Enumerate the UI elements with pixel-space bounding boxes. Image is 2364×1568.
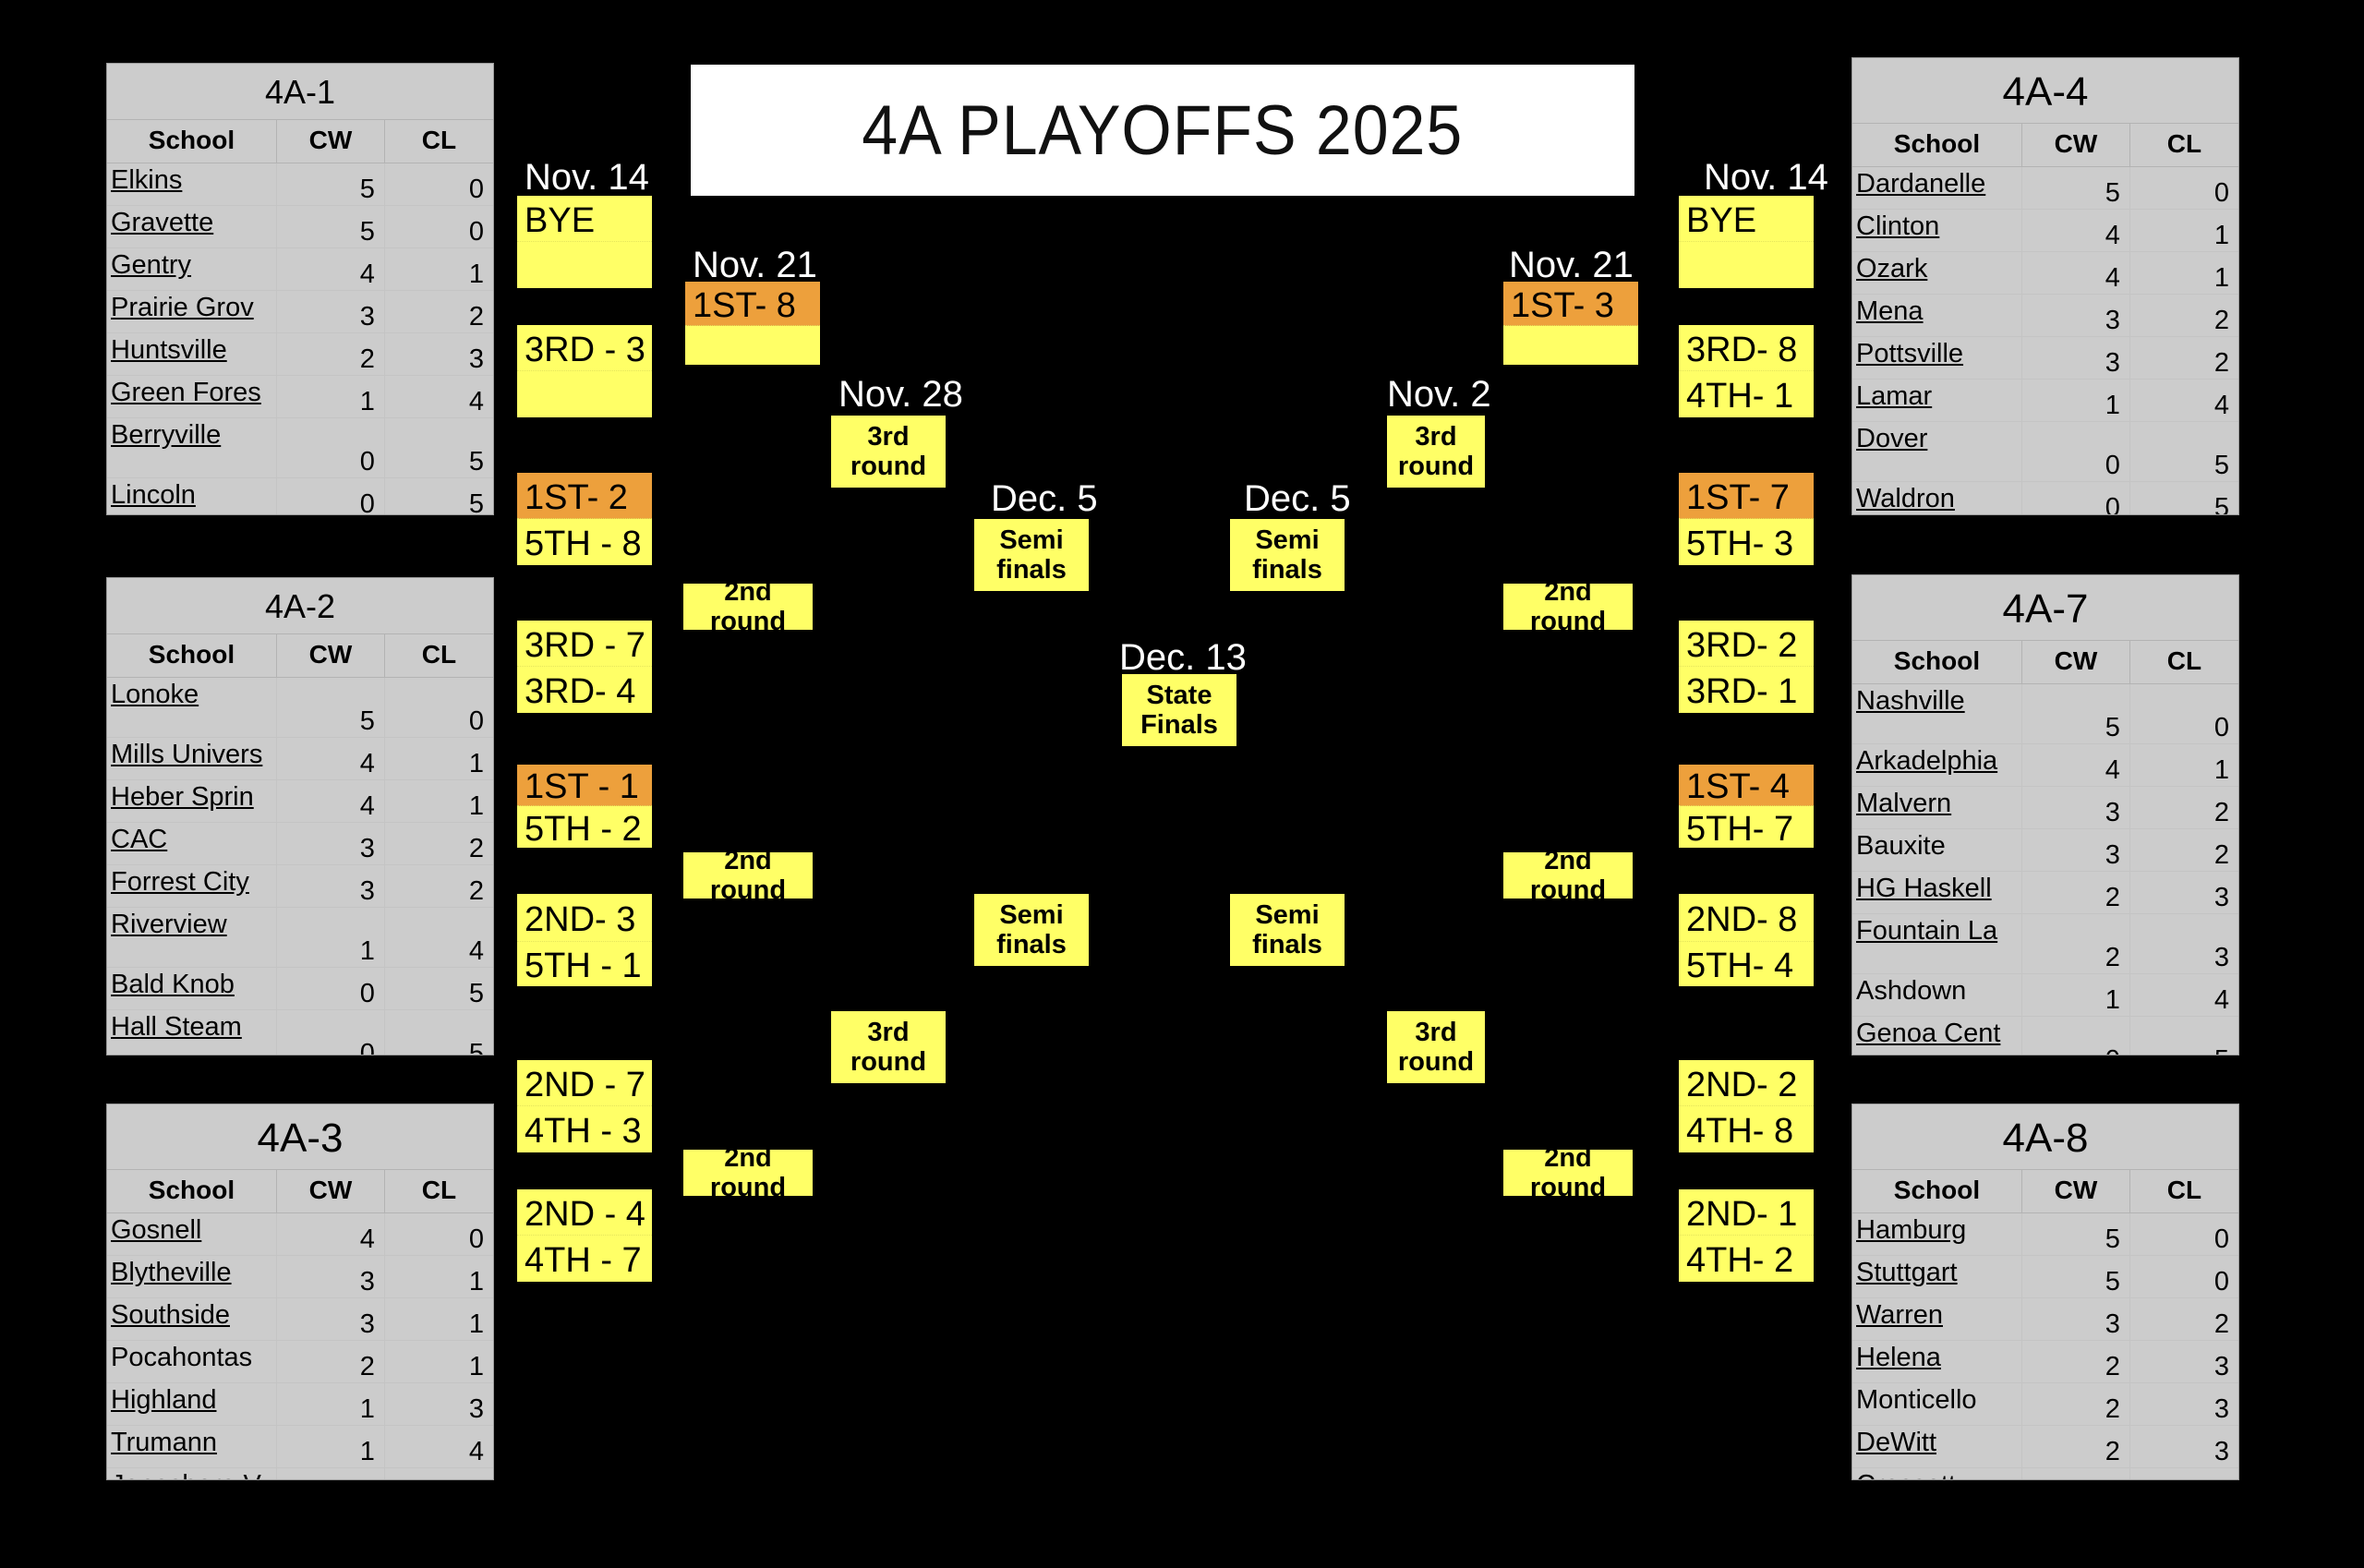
table-row: Arkadelphia41 xyxy=(1852,744,2238,787)
table-row: Gentry41 xyxy=(107,248,493,291)
column-header-school: School xyxy=(1852,124,2022,166)
cell-school: Southside xyxy=(107,1298,277,1340)
cell-cw: 0 xyxy=(2022,422,2130,481)
cell-cl: 1 xyxy=(385,1341,493,1382)
cell-cw: 0 xyxy=(277,478,385,515)
match-slot-bottom[interactable]: 4TH- 1 xyxy=(1679,371,1814,417)
match-slot-bottom[interactable] xyxy=(517,242,652,288)
match-box-left-7[interactable]: 2ND - 7 4TH - 3 xyxy=(517,1060,652,1152)
cell-school: Ashdown xyxy=(1852,974,2022,1016)
cell-cl: 5 xyxy=(2130,422,2238,481)
cell-cw: 2 xyxy=(2022,914,2130,973)
cell-cw: 1 xyxy=(2022,380,2130,421)
cell-cl: 4 xyxy=(385,1426,493,1467)
cell-cl: 1 xyxy=(2130,252,2238,294)
match-slot-top[interactable]: 2ND- 8 xyxy=(1679,894,1814,942)
round-tag-line2: finals xyxy=(1252,930,1322,959)
table-row: Bauxite32 xyxy=(1852,829,2238,872)
match-slot-bottom[interactable]: 5TH- 3 xyxy=(1679,519,1814,565)
match-slot-top[interactable]: 2ND - 7 xyxy=(517,1060,652,1106)
round-tag-line2: finals xyxy=(996,555,1067,585)
table-header-row: School CW CL xyxy=(107,120,493,163)
match-box-left-2[interactable]: 3RD - 3 xyxy=(517,325,652,417)
table-row: Southside31 xyxy=(107,1298,493,1341)
round-tag-line1: 3rd xyxy=(1415,422,1456,452)
column-header-cw: CW xyxy=(277,120,385,163)
cell-cl: 1 xyxy=(385,248,493,290)
cell-cw: 0 xyxy=(2022,1017,2130,1055)
cell-cw: 1 xyxy=(277,376,385,417)
cell-cl: 3 xyxy=(2130,1341,2238,1382)
column-header-cl: CL xyxy=(2130,641,2238,683)
round-tag-line2: round xyxy=(850,1047,926,1077)
cell-school: Green Fores xyxy=(107,376,277,417)
table-row: CAC32 xyxy=(107,823,493,865)
match-box-right-2[interactable]: 3RD- 8 4TH- 1 xyxy=(1679,325,1814,417)
table-row: Mena32 xyxy=(1852,295,2238,337)
match-slot-bottom[interactable]: 4TH- 2 xyxy=(1679,1236,1814,1282)
cell-cl: 5 xyxy=(385,418,493,477)
round-tag-line1: Semi xyxy=(1255,525,1319,555)
cell-cl: 4 xyxy=(2130,380,2238,421)
table-row: Trumann14 xyxy=(107,1426,493,1468)
match-box-right-6[interactable]: 2ND- 8 5TH- 4 xyxy=(1679,894,1814,986)
match-slot-top[interactable]: 1ST- 8 xyxy=(685,282,820,326)
table-row: Dardanelle50 xyxy=(1852,167,2238,210)
table-header-row: School CW CL xyxy=(1852,1170,2238,1213)
match-slot-top[interactable]: 2ND- 1 xyxy=(1679,1189,1814,1236)
table-row: Heber Sprin41 xyxy=(107,780,493,823)
conference-title: 4A-2 xyxy=(107,578,493,634)
table-row: Ashdown14 xyxy=(1852,974,2238,1017)
page-title: 4A PLAYOFFS 2025 xyxy=(862,90,1464,171)
match-slot-bottom[interactable]: 4TH - 7 xyxy=(517,1236,652,1282)
match-slot-top[interactable]: 2ND- 2 xyxy=(1679,1060,1814,1106)
column-header-cw: CW xyxy=(2022,124,2130,166)
match-slot-bottom[interactable]: 3RD- 4 xyxy=(517,667,652,713)
match-slot-top[interactable]: 1ST - 1 xyxy=(517,765,652,806)
cell-cw: 4 xyxy=(277,248,385,290)
match-box-left-1[interactable]: BYE xyxy=(517,196,652,288)
match-slot-top[interactable]: 1ST- 4 xyxy=(1679,765,1814,806)
cell-school: Forrest City xyxy=(107,865,277,907)
date-label-right-nov14: Nov. 14 xyxy=(1704,157,1828,199)
column-header-cl: CL xyxy=(2130,1170,2238,1212)
cell-cw: 2 xyxy=(2022,872,2130,913)
table-header-row: School CW CL xyxy=(1852,124,2238,167)
cell-cw: 4 xyxy=(2022,252,2130,294)
round-tag-semifinals-right-2[interactable]: Semi finals xyxy=(1230,894,1345,966)
table-row: Riverview14 xyxy=(107,908,493,968)
round-tag-line2: finals xyxy=(1252,555,1322,585)
conference-title: 4A-4 xyxy=(1852,58,2238,124)
cell-cw: 5 xyxy=(277,163,385,205)
column-header-cw: CW xyxy=(277,634,385,677)
cell-school: Arkadelphia xyxy=(1852,744,2022,786)
date-label-right-nov28: Nov. 2 xyxy=(1387,374,1496,416)
match-slot-bottom[interactable]: 4TH - 3 xyxy=(517,1106,652,1152)
cell-cl: 3 xyxy=(2130,914,2238,973)
table-row: Gravette50 xyxy=(107,206,493,248)
conference-table-4a-4: 4A-4 School CW CL Dardanelle50 Clinton41… xyxy=(1851,57,2239,515)
cell-school: Stuttgart xyxy=(1852,1256,2022,1297)
cell-school: Crossett xyxy=(1852,1468,2022,1480)
cell-school: Nashville xyxy=(1852,684,2022,743)
cell-school: Gravette xyxy=(107,206,277,247)
table-row: Warren32 xyxy=(1852,1298,2238,1341)
table-header-row: School CW CL xyxy=(107,634,493,678)
round-tag-line1: 3rd xyxy=(867,422,909,452)
match-slot-bottom[interactable] xyxy=(1679,242,1814,288)
cell-cw: 3 xyxy=(2022,787,2130,828)
round-tag-3rd-round-right-2[interactable]: 3rd round xyxy=(1387,1011,1485,1083)
table-row: Lamar14 xyxy=(1852,380,2238,422)
cell-cl: 0 xyxy=(385,1213,493,1255)
conference-table-4a-8: 4A-8 School CW CL Hamburg50 Stuttgart50 … xyxy=(1851,1104,2239,1480)
cell-cw: 3 xyxy=(277,823,385,864)
cell-school: Gosnell xyxy=(107,1213,277,1255)
match-box-right-8[interactable]: 2ND- 1 4TH- 2 xyxy=(1679,1189,1814,1282)
table-row: Fountain La23 xyxy=(1852,914,2238,974)
cell-cw: 1 xyxy=(277,1426,385,1467)
round-tag-line2: finals xyxy=(996,930,1067,959)
table-row: Blytheville31 xyxy=(107,1256,493,1298)
cell-cw: 3 xyxy=(2022,829,2130,871)
cell-school: Huntsville xyxy=(107,333,277,375)
cell-school: Lincoln xyxy=(107,478,277,515)
cell-school: HG Haskell xyxy=(1852,872,2022,913)
round-tag-line1: 3rd xyxy=(1415,1018,1456,1047)
round-tag-line1: Semi xyxy=(999,900,1063,930)
table-row: Hall Steam 05 xyxy=(107,1010,493,1055)
table-row: Pocahontas21 xyxy=(107,1341,493,1383)
table-row: Prairie Grov32 xyxy=(107,291,493,333)
table-header-row: School CW CL xyxy=(107,1170,493,1213)
cell-school: CAC xyxy=(107,823,277,864)
cell-school: Heber Sprin xyxy=(107,780,277,822)
column-header-school: School xyxy=(1852,641,2022,683)
table-row: Highland13 xyxy=(107,1383,493,1426)
match-box-right-1[interactable]: BYE xyxy=(1679,196,1814,288)
cell-school: Bauxite xyxy=(1852,829,2022,871)
cell-cw: 3 xyxy=(277,1256,385,1297)
table-row: Genoa Cent05 xyxy=(1852,1017,2238,1055)
round-tag-3rd-round-left-1[interactable]: 3rd round xyxy=(831,416,946,488)
match-slot-bottom[interactable]: 5TH- 4 xyxy=(1679,942,1814,986)
cell-cw: 1 xyxy=(277,908,385,967)
cell-cw: 0 xyxy=(277,1468,385,1480)
cell-cl: 3 xyxy=(385,1383,493,1425)
match-slot-top[interactable]: BYE xyxy=(517,196,652,242)
cell-cl: 5 xyxy=(2130,1017,2238,1055)
cell-cw: 4 xyxy=(277,738,385,779)
table-row: Dover05 xyxy=(1852,422,2238,482)
cell-cw: 1 xyxy=(2022,974,2130,1016)
cell-cl: 4 xyxy=(385,376,493,417)
column-header-cw: CW xyxy=(2022,1170,2130,1212)
cell-cl: 1 xyxy=(2130,744,2238,786)
match-box-right-7[interactable]: 2ND- 2 4TH- 8 xyxy=(1679,1060,1814,1152)
cell-cl: 3 xyxy=(2130,872,2238,913)
cell-school: Highland xyxy=(107,1383,277,1425)
match-slot-bottom[interactable] xyxy=(685,326,820,365)
cell-school: Jonesboro V xyxy=(107,1468,277,1480)
table-row: Waldron05 xyxy=(1852,482,2238,515)
cell-cw: 1 xyxy=(277,1383,385,1425)
match-box-left-r2-1[interactable]: 1ST- 8 xyxy=(685,282,820,365)
cell-cw: 4 xyxy=(2022,744,2130,786)
page-title-banner: 4A PLAYOFFS 2025 xyxy=(691,65,1634,196)
cell-school: Genoa Cent xyxy=(1852,1017,2022,1055)
cell-cl: 5 xyxy=(385,1010,493,1055)
cell-school: Waldron xyxy=(1852,482,2022,515)
cell-school: Riverview xyxy=(107,908,277,967)
cell-cw: 2 xyxy=(2022,1383,2130,1425)
match-box-left-5[interactable]: 1ST - 1 5TH - 2 xyxy=(517,765,652,848)
match-box-left-4[interactable]: 3RD - 7 3RD- 4 xyxy=(517,621,652,713)
cell-cl: 3 xyxy=(2130,1426,2238,1467)
table-row: Green Fores14 xyxy=(107,376,493,418)
table-row: Helena23 xyxy=(1852,1341,2238,1383)
table-row: HG Haskell23 xyxy=(1852,872,2238,914)
round-tag-semifinals-left-2[interactable]: Semi finals xyxy=(974,894,1089,966)
match-box-left-6[interactable]: 2ND- 3 5TH - 1 xyxy=(517,894,652,986)
match-slot-bottom[interactable]: 3RD- 1 xyxy=(1679,667,1814,713)
column-header-school: School xyxy=(107,120,277,163)
conference-table-4a-2: 4A-2 School CW CL Lonoke50 Mills Univers… xyxy=(106,577,494,1055)
cell-school: Elkins xyxy=(107,163,277,205)
match-slot-top[interactable]: 2ND - 4 xyxy=(517,1189,652,1236)
round-tag-line1: Semi xyxy=(1255,900,1319,930)
bracket-canvas: 4A PLAYOFFS 2025 4A-1 School CW CL Elkin… xyxy=(0,0,2364,1568)
cell-school: Hamburg xyxy=(1852,1213,2022,1255)
cell-school: Prairie Grov xyxy=(107,291,277,332)
match-slot-bottom[interactable]: 4TH- 8 xyxy=(1679,1106,1814,1152)
date-label-right-dec5: Dec. 5 xyxy=(1244,478,1351,520)
cell-cl: 4 xyxy=(2130,1468,2238,1480)
cell-cl: 2 xyxy=(385,823,493,864)
match-slot-top[interactable]: 3RD- 2 xyxy=(1679,621,1814,667)
conference-table-4a-7: 4A-7 School CW CL Nashville50 Arkadelphi… xyxy=(1851,574,2239,1055)
cell-school: Trumann xyxy=(107,1426,277,1467)
conference-title: 4A-1 xyxy=(107,64,493,120)
cell-school: Mills Univers xyxy=(107,738,277,779)
cell-cl: 4 xyxy=(2130,974,2238,1016)
cell-school: Pocahontas xyxy=(107,1341,277,1382)
cell-cl: 0 xyxy=(2130,1213,2238,1255)
table-row: Lincoln05 xyxy=(107,478,493,515)
round-tag-3rd-round-right-1[interactable]: 3rd round xyxy=(1387,416,1485,488)
cell-cl: 4 xyxy=(385,1468,493,1480)
match-box-right-r2-1[interactable]: 1ST- 3 xyxy=(1503,282,1638,365)
date-label-left-nov28: Nov. 28 xyxy=(838,374,963,416)
date-label-left-dec5: Dec. 5 xyxy=(991,478,1098,520)
table-row: Mills Univers41 xyxy=(107,738,493,780)
round-tag-2nd-round-left-1[interactable]: 2nd round xyxy=(683,584,813,630)
match-slot-bottom[interactable]: 5TH - 8 xyxy=(517,519,652,565)
cell-cw: 2 xyxy=(2022,1426,2130,1467)
match-box-right-4[interactable]: 3RD- 2 3RD- 1 xyxy=(1679,621,1814,713)
cell-school: Dover xyxy=(1852,422,2022,481)
cell-cl: 2 xyxy=(2130,787,2238,828)
table-row: Ozark41 xyxy=(1852,252,2238,295)
conference-title: 4A-8 xyxy=(1852,1104,2238,1170)
table-row: Forrest City32 xyxy=(107,865,493,908)
cell-cl: 1 xyxy=(385,738,493,779)
round-tag-line2: round xyxy=(1398,452,1474,481)
round-tag-state-finals[interactable]: State Finals xyxy=(1122,674,1236,746)
cell-school: Hall Steam xyxy=(107,1010,277,1055)
cell-school: Lonoke xyxy=(107,678,277,737)
round-tag-2nd-round-right-1[interactable]: 2nd round xyxy=(1503,584,1633,630)
match-slot-bottom[interactable] xyxy=(1503,326,1638,365)
match-slot-top[interactable]: 1ST- 3 xyxy=(1503,282,1638,326)
column-header-cl: CL xyxy=(385,120,493,163)
match-slot-top[interactable]: 3RD - 7 xyxy=(517,621,652,667)
round-tag-line2: round xyxy=(850,452,926,481)
match-box-right-3[interactable]: 1ST- 7 5TH- 3 xyxy=(1679,473,1814,565)
cell-cw: 5 xyxy=(2022,167,2130,209)
cell-cl: 0 xyxy=(385,206,493,247)
match-slot-top[interactable]: 3RD - 3 xyxy=(517,325,652,371)
cell-cw: 3 xyxy=(277,1298,385,1340)
match-slot-bottom[interactable]: 5TH - 2 xyxy=(517,806,652,848)
conference-table-4a-3: 4A-3 School CW CL Gosnell40 Blytheville3… xyxy=(106,1104,494,1480)
conference-title: 4A-3 xyxy=(107,1104,493,1170)
round-tag-2nd-round-right-2[interactable]: 2nd round xyxy=(1503,852,1633,899)
cell-cl: 5 xyxy=(2130,482,2238,515)
column-header-cl: CL xyxy=(385,634,493,677)
match-box-left-8[interactable]: 2ND - 4 4TH - 7 xyxy=(517,1189,652,1282)
cell-cl: 5 xyxy=(385,478,493,515)
table-row: Clinton41 xyxy=(1852,210,2238,252)
cell-school: Helena xyxy=(1852,1341,2022,1382)
cell-cw: 3 xyxy=(2022,337,2130,379)
cell-cl: 5 xyxy=(385,968,493,1009)
match-slot-top[interactable]: 2ND- 3 xyxy=(517,894,652,942)
table-row: Huntsville23 xyxy=(107,333,493,376)
cell-school: Monticello xyxy=(1852,1383,2022,1425)
cell-school: Dardanelle xyxy=(1852,167,2022,209)
cell-cw: 3 xyxy=(277,865,385,907)
round-tag-line1: 3rd xyxy=(867,1018,909,1047)
match-slot-top[interactable]: 1ST- 7 xyxy=(1679,473,1814,519)
round-tag-line2: Finals xyxy=(1140,710,1218,740)
cell-cw: 0 xyxy=(2022,482,2130,515)
cell-cl: 3 xyxy=(2130,1383,2238,1425)
cell-cl: 0 xyxy=(2130,167,2238,209)
cell-cw: 5 xyxy=(2022,1213,2130,1255)
table-row: Hamburg50 xyxy=(1852,1213,2238,1256)
cell-cw: 4 xyxy=(2022,210,2130,251)
date-label-final-dec13: Dec. 13 xyxy=(1119,637,1247,679)
cell-cl: 1 xyxy=(385,780,493,822)
column-header-cl: CL xyxy=(385,1170,493,1212)
cell-school: DeWitt xyxy=(1852,1426,2022,1467)
cell-school: Bald Knob xyxy=(107,968,277,1009)
match-box-left-3[interactable]: 1ST- 2 5TH - 8 xyxy=(517,473,652,565)
cell-cl: 0 xyxy=(2130,684,2238,743)
date-label-right-nov21: Nov. 21 xyxy=(1509,245,1634,286)
cell-cl: 2 xyxy=(2130,337,2238,379)
table-row: DeWitt23 xyxy=(1852,1426,2238,1468)
round-tag-semifinals-left-1[interactable]: Semi finals xyxy=(974,519,1089,591)
cell-cl: 0 xyxy=(385,163,493,205)
round-tag-2nd-round-left-3[interactable]: 2nd round xyxy=(683,1150,813,1196)
cell-cl: 2 xyxy=(385,291,493,332)
date-label-left-nov21: Nov. 21 xyxy=(693,245,817,286)
match-slot-top[interactable]: 1ST- 2 xyxy=(517,473,652,519)
cell-cw: 3 xyxy=(277,291,385,332)
round-tag-line1: State xyxy=(1147,681,1212,710)
round-tag-line1: Semi xyxy=(999,525,1063,555)
table-row: Jonesboro V04 xyxy=(107,1468,493,1480)
round-tag-semifinals-right-1[interactable]: Semi finals xyxy=(1230,519,1345,591)
cell-cl: 2 xyxy=(2130,829,2238,871)
match-box-right-5[interactable]: 1ST- 4 5TH- 7 xyxy=(1679,765,1814,848)
date-label-left-nov14: Nov. 14 xyxy=(525,157,649,199)
column-header-cw: CW xyxy=(277,1170,385,1212)
cell-cw: 2 xyxy=(277,1341,385,1382)
table-row: Pottsville32 xyxy=(1852,337,2238,380)
cell-cw: 4 xyxy=(277,1213,385,1255)
column-header-school: School xyxy=(1852,1170,2022,1212)
table-row: Lonoke50 xyxy=(107,678,493,738)
cell-cl: 2 xyxy=(2130,1298,2238,1340)
cell-cw: 0 xyxy=(277,418,385,477)
cell-cw: 2 xyxy=(277,333,385,375)
table-row: Bald Knob05 xyxy=(107,968,493,1010)
table-row: Berryville05 xyxy=(107,418,493,478)
cell-cw: 3 xyxy=(2022,1298,2130,1340)
match-slot-bottom[interactable] xyxy=(517,371,652,417)
round-tag-2nd-round-right-3[interactable]: 2nd round xyxy=(1503,1150,1633,1196)
cell-cw: 5 xyxy=(2022,684,2130,743)
table-row: Gosnell40 xyxy=(107,1213,493,1256)
cell-school: Ozark xyxy=(1852,252,2022,294)
cell-cl: 4 xyxy=(385,908,493,967)
cell-school: Pottsville xyxy=(1852,337,2022,379)
cell-cl: 2 xyxy=(385,865,493,907)
match-slot-bottom[interactable]: 5TH - 1 xyxy=(517,942,652,986)
column-header-school: School xyxy=(107,1170,277,1212)
match-slot-bottom[interactable]: 5TH- 7 xyxy=(1679,806,1814,848)
cell-school: Fountain La xyxy=(1852,914,2022,973)
cell-school: Berryville xyxy=(107,418,277,477)
cell-cl: 0 xyxy=(2130,1256,2238,1297)
cell-school: Malvern xyxy=(1852,787,2022,828)
cell-cw: 1 xyxy=(2022,1468,2130,1480)
table-row: Nashville50 xyxy=(1852,684,2238,744)
cell-cl: 3 xyxy=(385,333,493,375)
match-slot-top[interactable]: 3RD- 8 xyxy=(1679,325,1814,371)
round-tag-3rd-round-left-2[interactable]: 3rd round xyxy=(831,1011,946,1083)
cell-cw: 4 xyxy=(277,780,385,822)
cell-cw: 0 xyxy=(277,1010,385,1055)
cell-cl: 1 xyxy=(2130,210,2238,251)
cell-school: Lamar xyxy=(1852,380,2022,421)
round-tag-2nd-round-left-2[interactable]: 2nd round xyxy=(683,852,813,899)
table-row: Malvern32 xyxy=(1852,787,2238,829)
match-slot-top[interactable]: BYE xyxy=(1679,196,1814,242)
column-header-school: School xyxy=(107,634,277,677)
table-header-row: School CW CL xyxy=(1852,641,2238,684)
cell-cl: 0 xyxy=(385,678,493,737)
table-row: Elkins50 xyxy=(107,163,493,206)
cell-cw: 5 xyxy=(277,678,385,737)
column-header-cw: CW xyxy=(2022,641,2130,683)
conference-table-4a-1: 4A-1 School CW CL Elkins50 Gravette50 Ge… xyxy=(106,63,494,515)
